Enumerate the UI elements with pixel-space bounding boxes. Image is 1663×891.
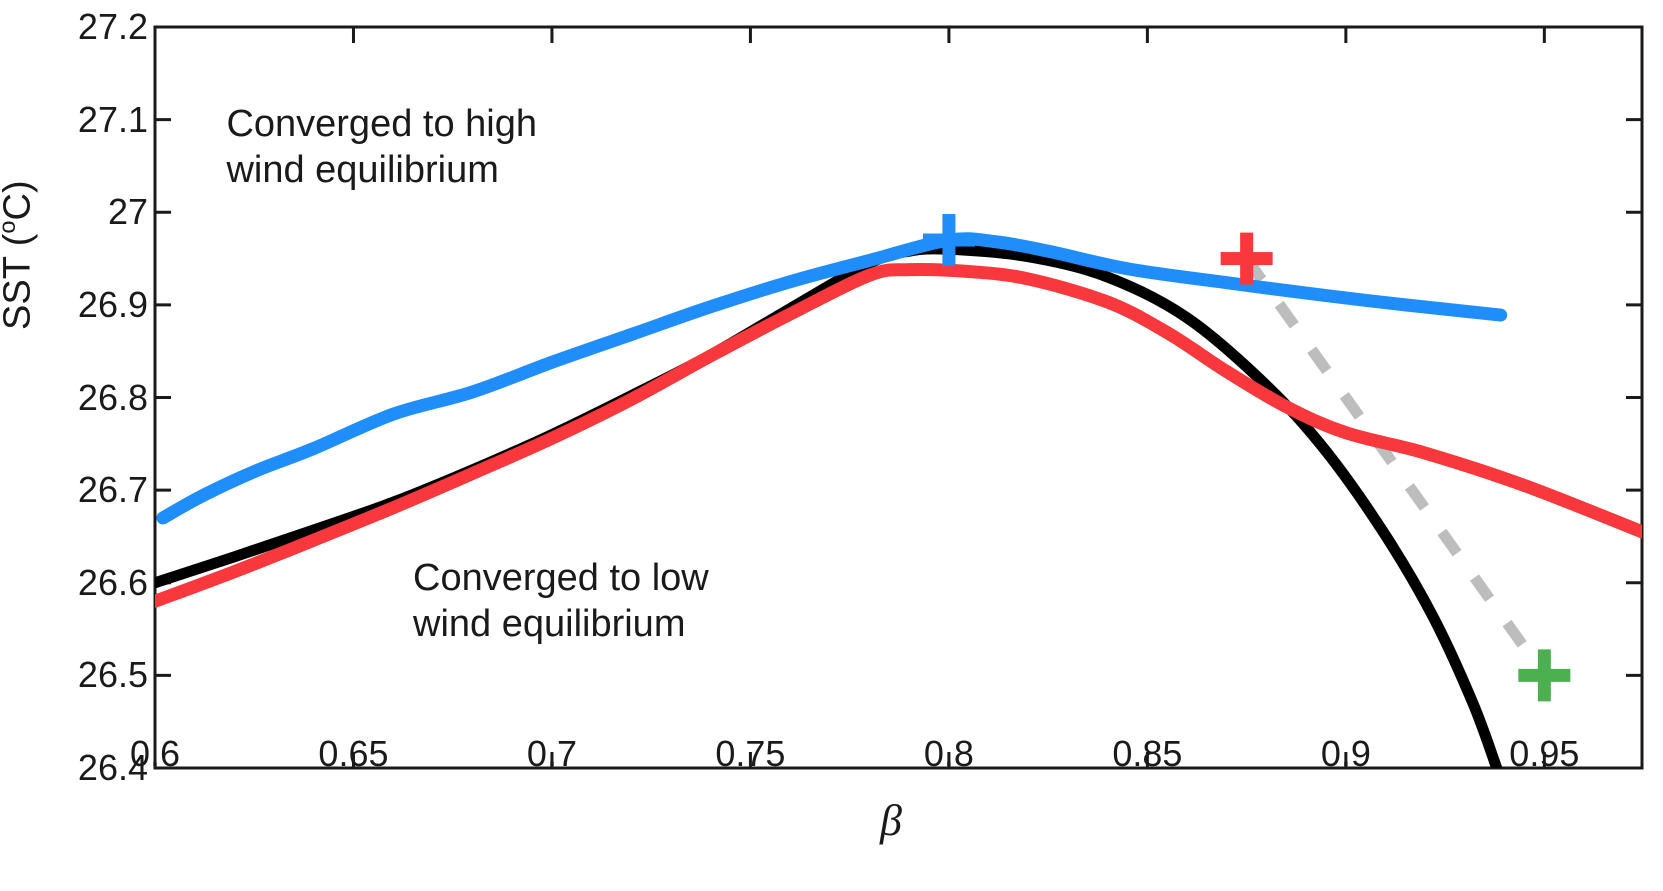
black-curve [155,249,1497,768]
green-plus-marker [1518,649,1570,701]
chart-figure: SST (oC) 27.2 27.1 27 26.9 26.8 26.7 26.… [0,0,1663,891]
axis-ticks [155,27,1642,768]
blue-plus-marker [923,214,975,266]
red-curve [155,269,1642,601]
data-series [155,239,1642,768]
axes-box [155,27,1642,768]
plot-canvas [0,0,1663,891]
